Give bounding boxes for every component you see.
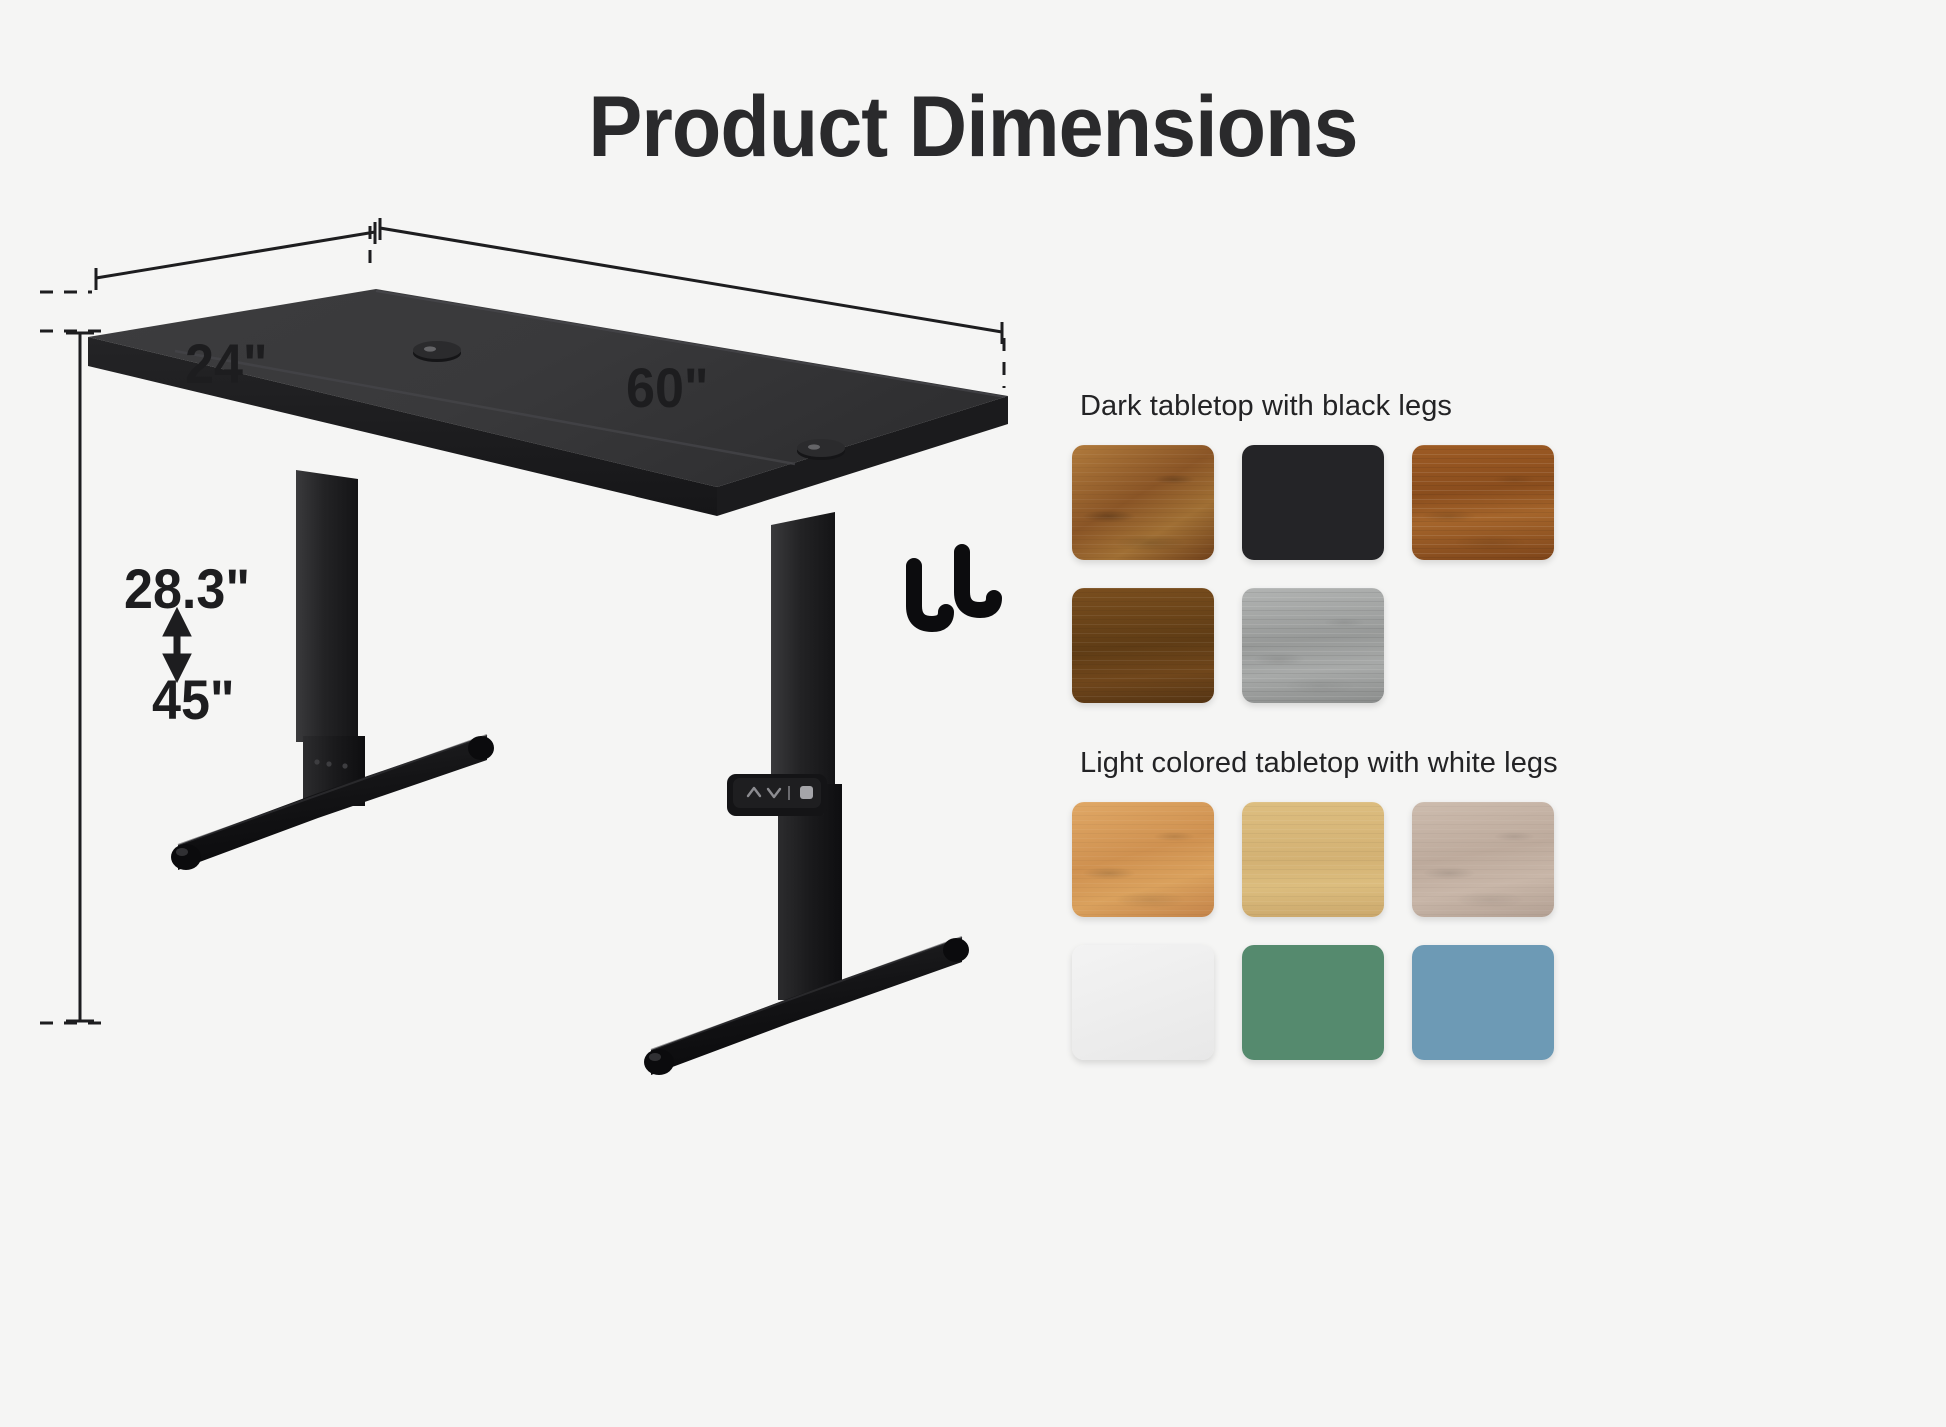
swatch-white[interactable] xyxy=(1072,945,1214,1060)
swatch-rustic-brown[interactable] xyxy=(1072,445,1214,560)
hook-right xyxy=(962,552,994,610)
swatch-sage-green[interactable] xyxy=(1242,945,1384,1060)
swatch-medium-walnut[interactable] xyxy=(1412,445,1554,560)
desk-hooks xyxy=(914,552,994,624)
swatch-group-title: Dark tabletop with black legs xyxy=(1080,390,1872,423)
swatch-group-title: Light colored tabletop with white legs xyxy=(1080,747,1872,780)
swatch-gray-wood[interactable] xyxy=(1242,588,1384,703)
hook-left xyxy=(914,566,946,624)
swatch-bamboo[interactable] xyxy=(1242,802,1384,917)
swatch-group-dark: Dark tabletop with black legs xyxy=(1072,390,1872,703)
height-min-label: 28.3" xyxy=(124,556,250,621)
swatch-grid-dark xyxy=(1072,445,1872,703)
power-icon xyxy=(800,786,813,799)
swatch-group-light: Light colored tabletop with white legs xyxy=(1072,747,1872,1060)
cable-grommet-right xyxy=(797,439,845,460)
depth-dimension-line xyxy=(40,222,375,292)
width-label: 60" xyxy=(626,355,709,420)
swatch-grid-light xyxy=(1072,802,1872,1060)
swatch-dark-walnut[interactable] xyxy=(1072,588,1214,703)
swatch-black[interactable] xyxy=(1242,445,1384,560)
swatch-placeholder xyxy=(1412,588,1554,703)
swatch-whitewashed-oak[interactable] xyxy=(1412,802,1554,917)
height-max-label: 45" xyxy=(152,667,235,732)
desk-tabletop xyxy=(88,289,1008,516)
cable-grommet-left xyxy=(413,341,461,362)
swatch-dusty-blue[interactable] xyxy=(1412,945,1554,1060)
control-panel[interactable] xyxy=(727,774,827,816)
product-dimensions-page: Product Dimensions xyxy=(0,0,1946,1427)
color-options-panel: Dark tabletop with black legs xyxy=(1072,390,1872,1104)
height-dimension-line xyxy=(40,331,108,1023)
swatch-natural-oak[interactable] xyxy=(1072,802,1214,917)
depth-label: 24" xyxy=(185,331,268,396)
